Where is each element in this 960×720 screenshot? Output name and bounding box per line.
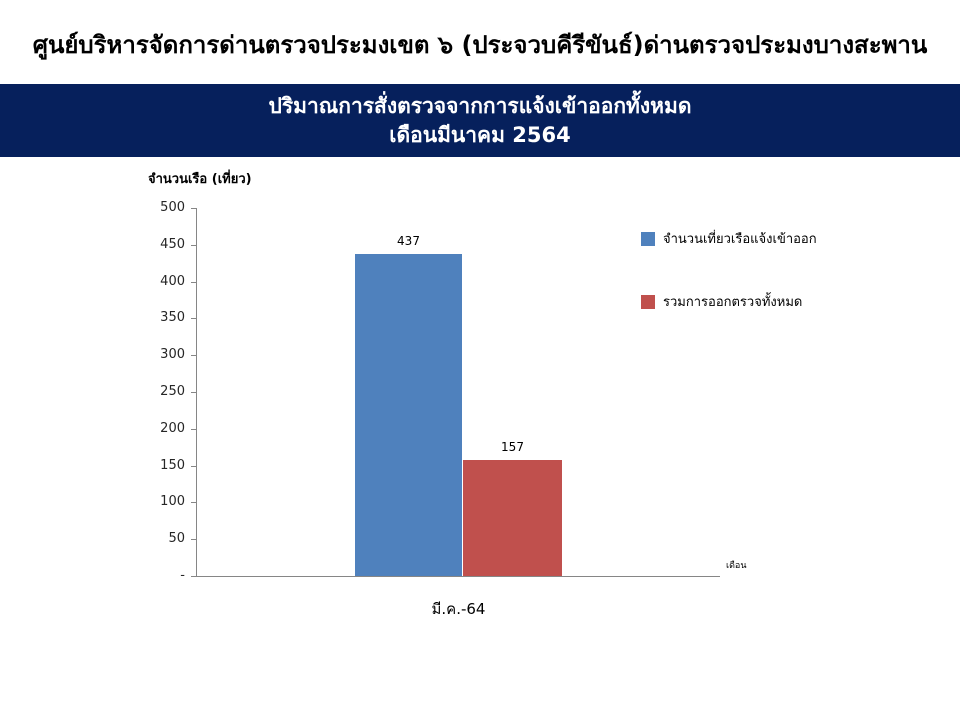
y-tick-mark	[191, 429, 196, 430]
y-tick-mark	[191, 576, 196, 577]
y-tick-mark	[191, 502, 196, 503]
bar-value-label: 157	[463, 441, 562, 453]
legend-label-0: จำนวนเที่ยวเรือแจ้งเข้าออก	[663, 228, 817, 249]
y-tick-mark	[191, 245, 196, 246]
y-tick-mark	[191, 208, 196, 209]
y-tick-mark	[191, 355, 196, 356]
y-axis-line	[196, 208, 197, 577]
y-tick-label: 250	[135, 385, 185, 398]
legend-item-0[interactable]: จำนวนเที่ยวเรือแจ้งเข้าออก	[641, 228, 817, 249]
y-axis-title: จำนวนเรือ (เที่ยว)	[148, 168, 252, 189]
x-axis-line	[196, 576, 720, 577]
x-axis-title: เดือน	[726, 558, 746, 572]
y-tick-label: 150	[135, 459, 185, 472]
y-tick-mark	[191, 466, 196, 467]
legend-label-1: รวมการออกตรวจทั้งหมด	[663, 291, 802, 312]
y-tick-label: 450	[135, 238, 185, 251]
legend-swatch-blue-icon	[641, 232, 655, 246]
legend-swatch-red-icon	[641, 295, 655, 309]
y-tick-mark	[191, 282, 196, 283]
y-tick-mark	[191, 318, 196, 319]
y-tick-label: 400	[135, 275, 185, 288]
legend-item-1[interactable]: รวมการออกตรวจทั้งหมด	[641, 291, 802, 312]
y-tick-label: 50	[135, 532, 185, 545]
y-tick-label: 200	[135, 422, 185, 435]
y-tick-mark	[191, 392, 196, 393]
y-tick-mark	[191, 539, 196, 540]
x-axis-category-label: มี.ค.-64	[355, 597, 562, 621]
bar-red[interactable]	[463, 460, 562, 576]
y-tick-label: -	[135, 569, 185, 582]
bar-chart: จำนวนเรือ (เที่ยว) 500450400350300250200…	[0, 0, 960, 720]
bar-blue[interactable]	[355, 254, 462, 576]
y-tick-label: 500	[135, 201, 185, 214]
bar-value-label: 437	[355, 235, 462, 247]
y-tick-label: 300	[135, 348, 185, 361]
y-tick-label: 100	[135, 495, 185, 508]
y-tick-label: 350	[135, 311, 185, 324]
